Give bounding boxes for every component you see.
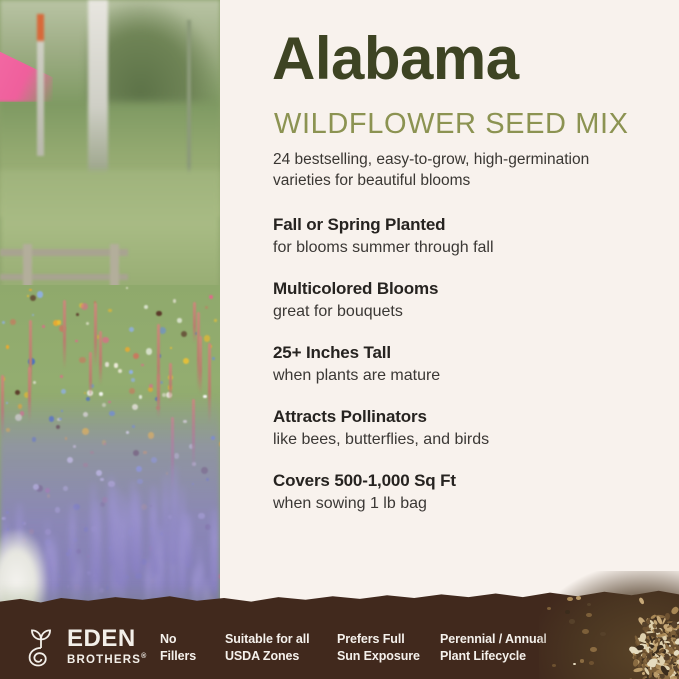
- feature-title: 25+ Inches Tall: [273, 342, 663, 364]
- feature-title: Fall or Spring Planted: [273, 214, 663, 236]
- page-subtitle: WILDFLOWER SEED MIX: [274, 110, 629, 139]
- brand-logo[interactable]: EDEN BROTHERS®: [22, 627, 148, 667]
- feature-item: Covers 500-1,000 Sq Ftwhen sowing 1 lb b…: [273, 470, 663, 516]
- feature-subtitle: for blooms summer through fall: [273, 236, 663, 260]
- footer-bar: EDEN BROTHERS® No FillersSuitable for al…: [0, 589, 679, 679]
- feature-subtitle: great for bouquets: [273, 300, 663, 324]
- registered-mark: ®: [141, 653, 147, 660]
- photo-treeline: [88, 0, 220, 102]
- page-title: Alabama: [272, 29, 519, 89]
- brand-tagline: BROTHERS®: [67, 650, 148, 667]
- wildflower-meadow-photo: [0, 0, 220, 679]
- feature-item: Attracts Pollinatorslike bees, butterfli…: [273, 406, 663, 452]
- footer-badge: Prefers Full Sun Exposure: [337, 631, 440, 665]
- product-infographic-card: Alabama WILDFLOWER SEED MIX 24 bestselli…: [0, 0, 679, 679]
- photo-far-post: [187, 20, 191, 190]
- product-details-panel: Alabama WILDFLOWER SEED MIX 24 bestselli…: [220, 0, 679, 679]
- footer-badge: Perennial / Annual Plant Lifecycle: [440, 631, 590, 665]
- footer-badge-row: No FillersSuitable for all USDA ZonesPre…: [160, 631, 590, 665]
- feature-subtitle: when sowing 1 lb bag: [273, 492, 663, 516]
- feature-title: Multicolored Blooms: [273, 278, 663, 300]
- feature-list: Fall or Spring Plantedfor blooms summer …: [273, 214, 663, 516]
- sprout-seedling-icon: [22, 627, 60, 667]
- feature-subtitle: like bees, butterflies, and birds: [273, 428, 663, 452]
- footer-badge: Suitable for all USDA Zones: [225, 631, 337, 665]
- footer-badge: No Fillers: [160, 631, 225, 665]
- brand-name: EDEN: [67, 628, 148, 650]
- feature-subtitle: when plants are mature: [273, 364, 663, 388]
- feature-item: 25+ Inches Tallwhen plants are mature: [273, 342, 663, 388]
- feature-item: Multicolored Bloomsgreat for bouquets: [273, 278, 663, 324]
- brand-wordmark: EDEN BROTHERS®: [67, 628, 148, 667]
- photo-white-sign: [88, 0, 108, 177]
- feature-title: Covers 500-1,000 Sq Ft: [273, 470, 663, 492]
- feature-item: Fall or Spring Plantedfor blooms summer …: [273, 214, 663, 260]
- product-description: 24 bestselling, easy-to-grow, high-germi…: [273, 149, 643, 191]
- photo-signpost: [37, 14, 44, 157]
- feature-title: Attracts Pollinators: [273, 406, 663, 428]
